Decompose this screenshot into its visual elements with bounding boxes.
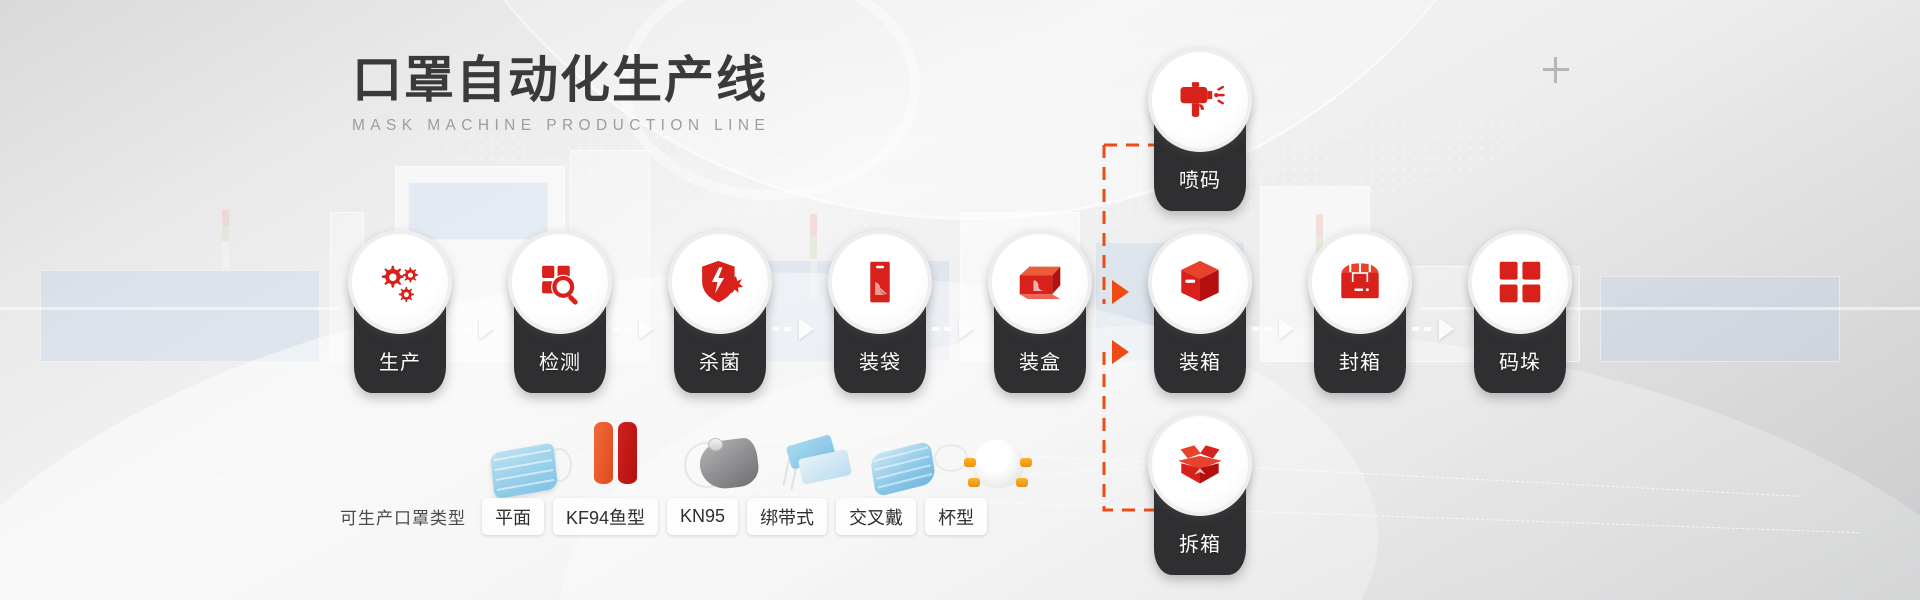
mask-valve-shape: [708, 438, 723, 451]
connector-2: [612, 315, 656, 343]
connector-dash: [772, 327, 796, 331]
node-label: 检测: [514, 346, 606, 375]
node-label: 装袋: [834, 346, 926, 375]
connector-dash: [452, 327, 476, 331]
mask-photo-cross-wear: [872, 436, 972, 498]
open-carton-icon: [988, 230, 1092, 334]
mask-type-chip-cup[interactable]: 杯型: [925, 498, 987, 535]
branch-arrow-lower-icon: [1112, 340, 1129, 364]
magnifier-inspect-icon: [508, 230, 612, 334]
page-title: 口罩自动化生产线: [352, 52, 770, 108]
mask-strap-clip-shape: [964, 458, 976, 467]
signal-tower-3: [222, 210, 229, 270]
node-label: 码垛: [1474, 346, 1566, 375]
connector-arrow-icon: [959, 318, 974, 340]
crosshair-plus-icon: [1543, 57, 1569, 83]
shield-lightning-icon: [668, 230, 772, 334]
node-label: 杀菌: [674, 346, 766, 375]
connector-4: [932, 315, 976, 343]
mask-body-shape: [870, 441, 937, 498]
gears-icon: [348, 230, 452, 334]
mask-strap-clip-shape: [1016, 478, 1028, 487]
connector-arrow-icon: [639, 318, 654, 340]
mask-photo-kf94: [594, 422, 642, 488]
signal-tower-1: [810, 214, 817, 300]
machine-silhouette-1: [40, 270, 320, 362]
node-label: 封箱: [1314, 346, 1406, 375]
connector-6: [1412, 315, 1456, 343]
connector-dash: [612, 327, 636, 331]
connector-dash: [1252, 327, 1276, 331]
mask-pleat-dots-top: [420, 120, 1540, 230]
inkjet-spray-gun-icon: [1148, 48, 1252, 152]
connector-arrow-icon: [799, 318, 814, 340]
mask-strap-clip-shape: [1020, 458, 1032, 467]
node-label: 装箱: [1154, 346, 1246, 375]
connector-arrow-icon: [479, 318, 494, 340]
mask-half-right-shape: [618, 422, 637, 484]
connector-1: [452, 315, 496, 343]
mask-type-chip-kf94[interactable]: KF94鱼型: [553, 498, 658, 535]
conveyor-rail-left: [0, 307, 340, 310]
mask-half-left-shape: [594, 422, 613, 484]
bag-pack-icon: [828, 230, 932, 334]
node-label: 生产: [354, 346, 446, 375]
machine-screen-4: [1600, 276, 1840, 362]
mask-type-chip-tie-on[interactable]: 绑带式: [747, 498, 827, 535]
branch-arrow-upper-icon: [1112, 280, 1129, 304]
page-subtitle: MASK MACHINE PRODUCTION LINE: [352, 117, 770, 135]
machine-screen-1: [408, 182, 548, 240]
mask-photo-cup: [962, 434, 1036, 498]
mask-types-title: 可生产口罩类型: [340, 504, 466, 529]
mask-types-strip: 可生产口罩类型 平面 KF94鱼型 KN95 绑带式 交叉戴 杯型: [340, 498, 996, 535]
connector-arrow-icon: [1279, 318, 1294, 340]
connector-arrow-icon: [1439, 318, 1454, 340]
node-label: 装盒: [994, 346, 1086, 375]
connector-dash: [932, 327, 956, 331]
mask-photo-kn95: [682, 430, 778, 496]
background-arc-3: [700, 0, 1920, 240]
connector-5: [1252, 315, 1296, 343]
mask-type-chip-flat[interactable]: 平面: [482, 498, 544, 535]
closed-box-icon: [1148, 230, 1252, 334]
mask-type-chip-kn95[interactable]: KN95: [667, 498, 738, 535]
open-flaps-box-icon: [1148, 412, 1252, 516]
mask-body-shape: [490, 443, 558, 500]
sealed-box-icon: [1308, 230, 1412, 334]
mask-photo-flat: [492, 440, 584, 502]
four-squares-pallet-icon: [1468, 230, 1572, 334]
node-label: 拆箱: [1154, 528, 1246, 557]
mask-type-chip-cross[interactable]: 交叉戴: [836, 498, 916, 535]
headline-block: 口罩自动化生产线 MASK MACHINE PRODUCTION LINE: [352, 52, 770, 135]
node-label: 喷码: [1154, 164, 1246, 193]
banner-canvas: 口罩自动化生产线 MASK MACHINE PRODUCTION LINE: [0, 0, 1920, 600]
mask-strap-clip-shape: [968, 478, 980, 487]
mask-photo-tie-on: [776, 436, 872, 498]
connector-3: [772, 315, 816, 343]
connector-dash: [1412, 327, 1436, 331]
